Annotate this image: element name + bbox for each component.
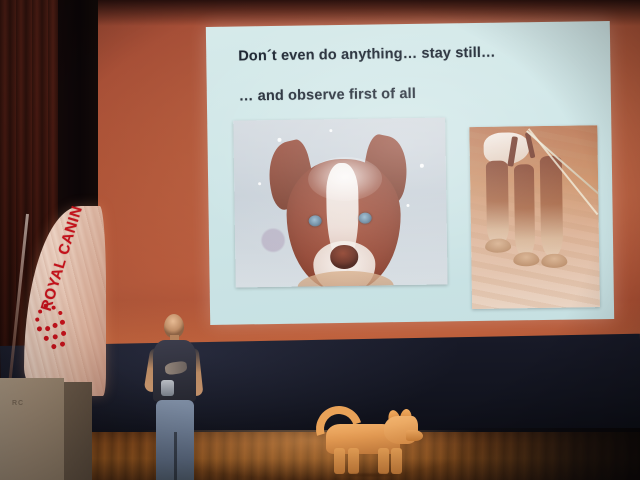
speaker-held-remote xyxy=(161,380,174,396)
royal-canin-banner: ROYAL CANIN xyxy=(24,206,106,396)
speaker-leg-gap xyxy=(174,432,177,480)
speaker-person xyxy=(140,314,210,480)
projection-screen: Don´t even do anything… stay still… … an… xyxy=(196,11,623,335)
statue-leg-3 xyxy=(378,448,389,474)
statue-leg-4 xyxy=(391,448,402,474)
slide-headline-2: … and observe first of all xyxy=(239,86,416,105)
dog-paw-3 xyxy=(541,254,567,268)
presentation-slide: Don´t even do anything… stay still… … an… xyxy=(206,21,614,325)
presentation-photo: Don´t even do anything… stay still… … an… xyxy=(0,0,640,480)
dog-nose xyxy=(330,245,358,269)
wooden-dog-statue xyxy=(308,404,424,476)
dog-leg-3 xyxy=(540,156,563,256)
floor-shadow-right xyxy=(430,428,640,480)
lectern-front: RC xyxy=(0,378,64,480)
dog-leg-2 xyxy=(514,164,535,256)
lectern: RC xyxy=(0,378,92,480)
statue-leg-1 xyxy=(334,448,345,474)
dog-paw-1 xyxy=(485,238,511,252)
slide-headline-1: Don´t even do anything… stay still… xyxy=(238,45,496,65)
lectern-label: RC xyxy=(12,400,24,407)
statue-leg-2 xyxy=(348,448,359,474)
lectern-top xyxy=(0,375,92,382)
lectern-side xyxy=(63,382,92,480)
dog-leg-1 xyxy=(486,161,509,245)
slide-photo-husky-face xyxy=(233,117,447,287)
slide-photo-dog-legs xyxy=(469,125,600,309)
statue-shadow xyxy=(324,472,410,478)
dog-paw-2 xyxy=(513,252,539,266)
statue-snout xyxy=(406,430,423,441)
